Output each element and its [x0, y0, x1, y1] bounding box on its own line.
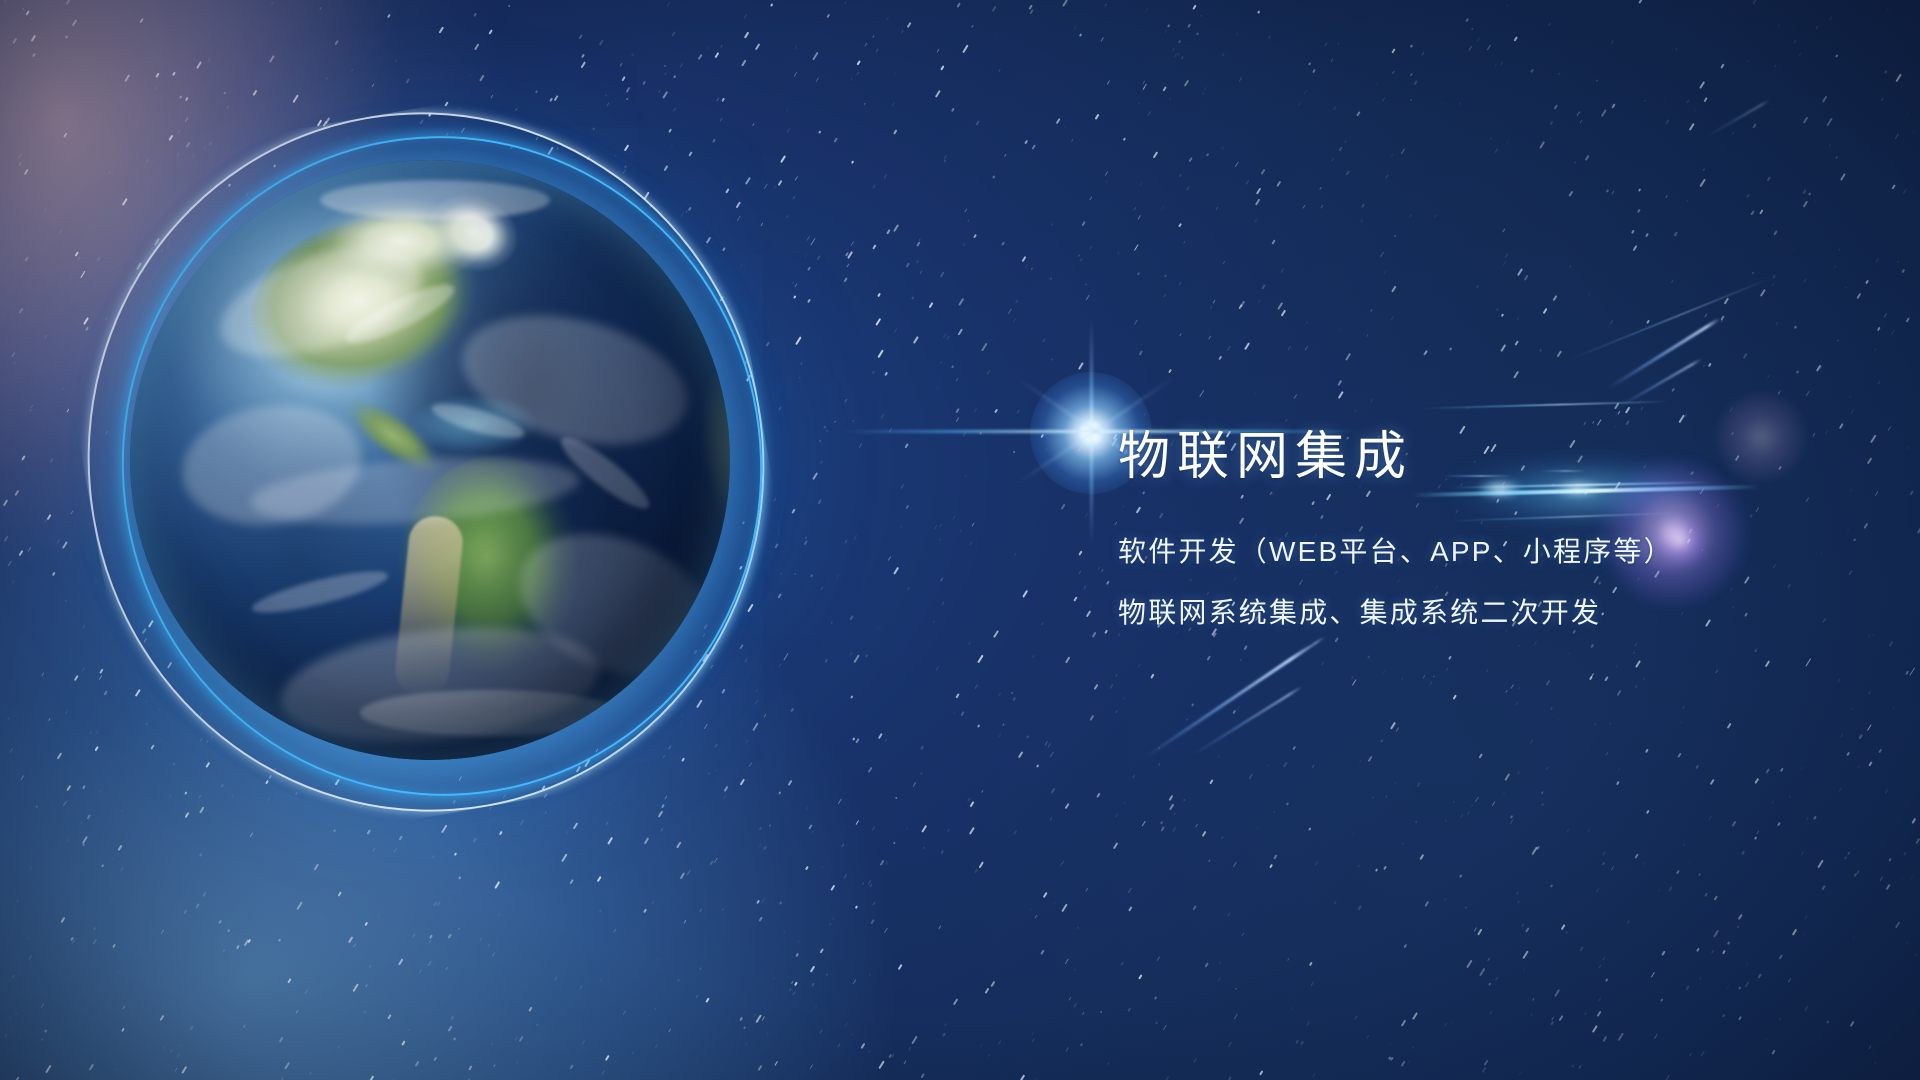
subtitle-line-2: 物联网系统集成、集成系统二次开发 — [1118, 596, 1858, 630]
banner-text-block: 物联网集成 软件开发（WEB平台、APP、小程序等） 物联网系统集成、集成系统二… — [1118, 428, 1858, 630]
meteor-streak-5 — [1253, 636, 1325, 686]
orbit-ring-cyan — [84, 99, 800, 832]
light-streak-thin-upper — [1420, 401, 1670, 410]
subtitle-line-1: 软件开发（WEB平台、APP、小程序等） — [1118, 535, 1858, 569]
meteor-streak-4 — [1191, 686, 1302, 757]
banner-stage: 物联网集成 软件开发（WEB平台、APP、小程序等） 物联网系统集成、集成系统二… — [0, 0, 1920, 1080]
orbit-ring-cyan-stroke — [84, 99, 800, 832]
meteor-streak-6 — [1704, 100, 1769, 139]
page-title: 物联网集成 — [1118, 428, 1858, 486]
